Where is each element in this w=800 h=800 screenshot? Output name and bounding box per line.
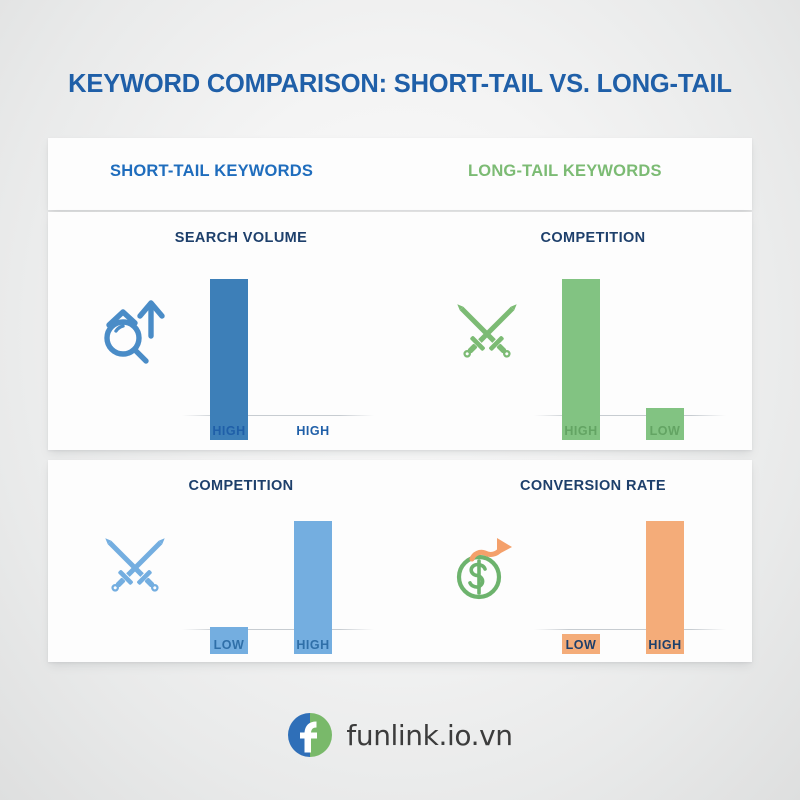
infographic-canvas: Keyword Comparison: Short-Tail vs. Long-… [0,0,800,800]
bar-label-0: Low [551,638,611,652]
chart-search-volume: High High [188,254,368,440]
bar-label-1: High [283,424,343,438]
panel-competition-short-tail: Competition [48,460,400,662]
bar-0 [562,279,600,440]
panel-title: Competition [400,230,752,246]
dollar-arrow-icon [448,522,526,606]
crossed-swords-icon [448,288,526,372]
magnifier-uptrend-icon [96,288,174,372]
chart-competition-short-tail: Low High [188,496,368,654]
brand-name: funlink.io.vn [346,719,512,752]
bar-label-0: Low [199,638,259,652]
panel-title: Competition [48,478,400,494]
column-header-card: Short-tail Keywords Long-tail Keywords [48,138,752,210]
column-header-long-tail: Long-tail Keywords [468,162,662,181]
funlink-circle-f-logo-icon [287,712,333,758]
panel-conversion-rate: Conversion Rate [400,460,752,662]
bar-label-1: High [635,638,695,652]
column-header-short-tail: Short-tail Keywords [110,162,313,181]
comparison-row-2: Competition [48,460,752,662]
bar-label-1: High [283,638,343,652]
footer-branding: funlink.io.vn [0,712,800,758]
bar-label-1: Low [635,424,695,438]
panel-title: Conversion Rate [400,478,752,494]
page-title: Keyword Comparison: Short-Tail vs. Long-… [0,70,800,99]
panel-title: Search Volume [48,230,400,246]
panel-competition-long-tail: Competition [400,212,752,450]
comparison-row-1: Search Volume High [48,212,752,450]
chart-baseline [534,629,726,630]
crossed-swords-icon [96,522,174,606]
chart-competition-long-tail: High Low [540,254,720,440]
bar-label-0: High [551,424,611,438]
panel-search-volume: Search Volume High [48,212,400,450]
bar-1 [294,521,332,654]
chart-conversion-rate: Low High [540,496,720,654]
bar-label-0: High [199,424,259,438]
bar-0 [210,279,248,440]
bar-1 [646,521,684,654]
